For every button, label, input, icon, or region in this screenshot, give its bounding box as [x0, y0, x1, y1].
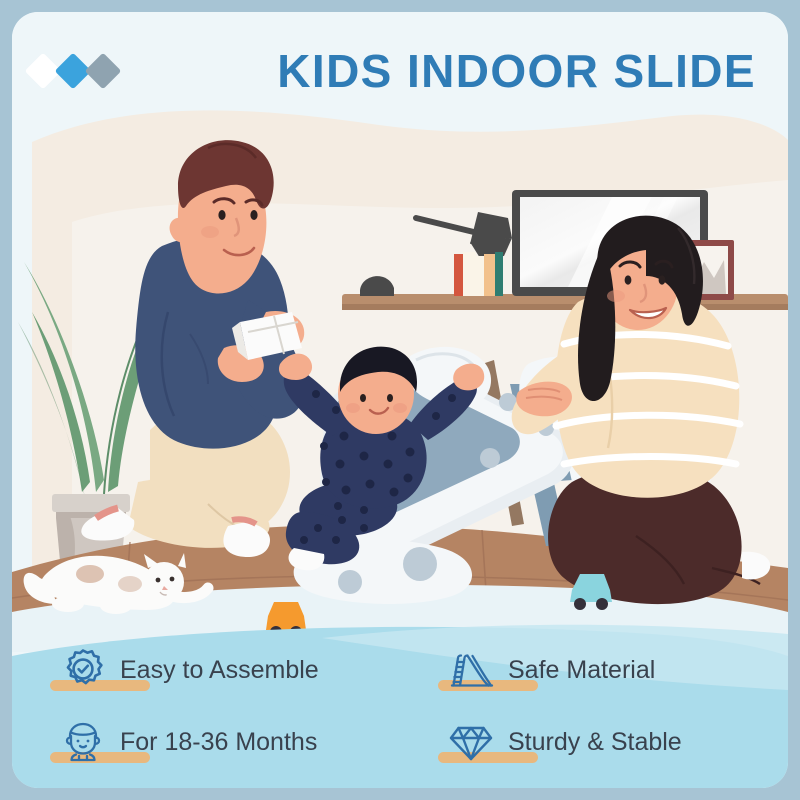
- feature-item-sturdy-stable: Sturdy & Stable: [400, 706, 788, 778]
- diamond-gem-icon: [448, 719, 494, 765]
- feature-panel: Easy to Assemble: [12, 612, 788, 788]
- slide-ladder-icon: [448, 647, 494, 693]
- diamond-gray-icon: [85, 53, 122, 90]
- desk-books: [454, 252, 503, 296]
- feature-label: Easy to Assemble: [120, 656, 319, 685]
- poster-card: KIDS INDOOR SLIDE: [12, 12, 788, 788]
- brand-diamonds: [30, 58, 116, 84]
- feature-grid: Easy to Assemble: [12, 634, 788, 778]
- eye-left: [218, 210, 225, 220]
- product-poster: KIDS INDOOR SLIDE: [0, 0, 800, 800]
- cat-patch: [76, 565, 104, 583]
- child-face-icon: [60, 719, 106, 765]
- feature-item-safe-material: Safe Material: [400, 634, 788, 706]
- feature-item-easy-to-assemble: Easy to Assemble: [12, 634, 400, 706]
- gear-check-icon: [60, 647, 106, 693]
- page-title: KIDS INDOOR SLIDE: [277, 44, 756, 98]
- eye-right: [250, 210, 257, 220]
- poster-header: KIDS INDOOR SLIDE: [12, 12, 788, 112]
- feature-label: For 18-36 Months: [120, 728, 317, 757]
- feature-item-age-range: For 18-36 Months: [12, 706, 400, 778]
